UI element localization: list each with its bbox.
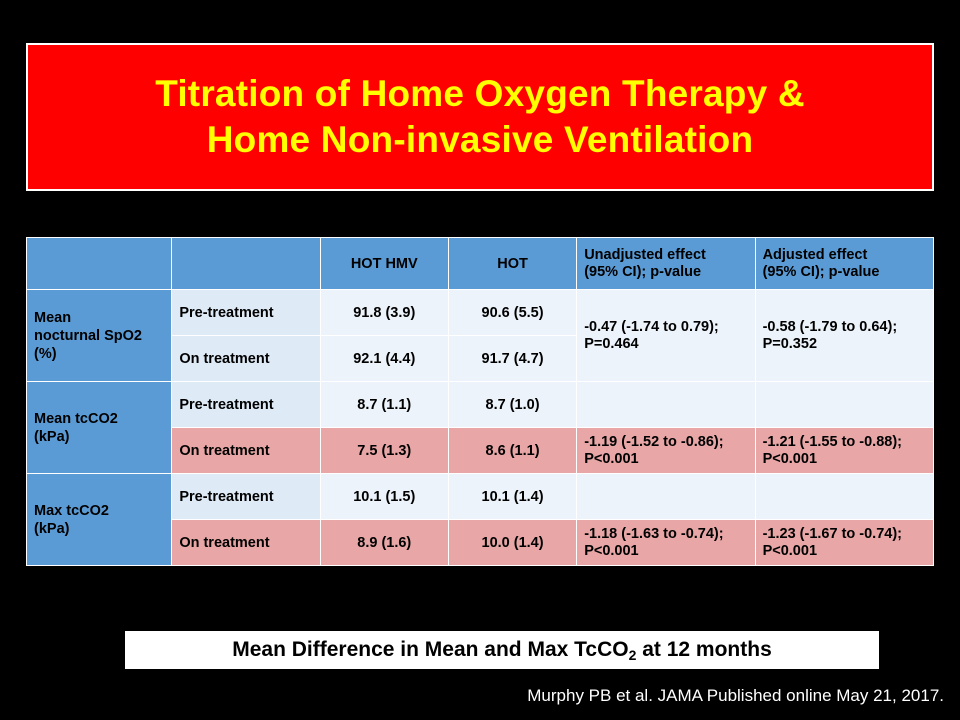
caption-box: Mean Difference in Mean and Max TcCO2 at… [124, 630, 880, 670]
value-hot: 91.7 (4.7) [448, 336, 576, 382]
phase-label: On treatment [172, 428, 320, 474]
header-hot-hmv: HOT HMV [320, 238, 448, 290]
header-unadjusted-effect: Unadjusted effect (95% CI); p-value [577, 238, 755, 290]
adjusted-line-1: -1.21 (-1.55 to -0.88); [763, 434, 926, 451]
header-adjusted-line-2: (95% CI); p-value [763, 264, 926, 281]
title-banner: Titration of Home Oxygen Therapy & Home … [26, 43, 934, 191]
group-label-max-tcco2: Max tcCO2 (kPa) [27, 474, 172, 566]
caption-part-2: at 12 months [636, 638, 771, 661]
group-label-mean-tcco2: Mean tcCO2 (kPa) [27, 382, 172, 474]
group-label-line-2: nocturnal SpO2 [34, 327, 164, 345]
group-label-line-1: Mean tcCO2 [34, 410, 164, 428]
phase-label: Pre-treatment [172, 290, 320, 336]
phase-label: On treatment [172, 520, 320, 566]
value-hot-hmv: 7.5 (1.3) [320, 428, 448, 474]
header-unadjusted-line-1: Unadjusted effect [584, 247, 747, 264]
unadjusted-line-1: -0.47 (-1.74 to 0.79); [584, 319, 747, 336]
header-adjusted-effect: Adjusted effect (95% CI); p-value [755, 238, 933, 290]
group-label-line-1: Max tcCO2 [34, 502, 164, 520]
adjusted-line-2: P<0.001 [763, 451, 926, 468]
unadjusted-line-2: P<0.001 [584, 543, 747, 560]
value-hot-hmv: 92.1 (4.4) [320, 336, 448, 382]
caption-part-1: Mean Difference in Mean and Max TcCO [232, 638, 628, 661]
value-hot: 90.6 (5.5) [448, 290, 576, 336]
header-corner-2 [172, 238, 320, 290]
value-unadjusted-effect: -1.18 (-1.63 to -0.74); P<0.001 [577, 520, 755, 566]
unadjusted-line-1: -1.18 (-1.63 to -0.74); [584, 526, 747, 543]
value-adjusted-effect: -0.58 (-1.79 to 0.64); P=0.352 [755, 290, 933, 382]
value-adjusted-effect-blank [755, 382, 933, 428]
value-hot-hmv: 91.8 (3.9) [320, 290, 448, 336]
unadjusted-line-1: -1.19 (-1.52 to -0.86); [584, 434, 747, 451]
value-hot-hmv: 10.1 (1.5) [320, 474, 448, 520]
caption-subscript: 2 [629, 647, 637, 663]
value-hot: 8.7 (1.0) [448, 382, 576, 428]
phase-label: On treatment [172, 336, 320, 382]
phase-label: Pre-treatment [172, 474, 320, 520]
table-row: Mean tcCO2 (kPa) Pre-treatment 8.7 (1.1)… [27, 382, 934, 428]
value-hot: 10.1 (1.4) [448, 474, 576, 520]
group-label-mean-nocturnal-spo2: Mean nocturnal SpO2 (%) [27, 290, 172, 382]
adjusted-line-2: P=0.352 [763, 336, 926, 353]
value-unadjusted-effect: -1.19 (-1.52 to -0.86); P<0.001 [577, 428, 755, 474]
caption-text: Mean Difference in Mean and Max TcCO2 at… [232, 638, 772, 662]
value-unadjusted-effect-blank [577, 474, 755, 520]
header-adjusted-line-1: Adjusted effect [763, 247, 926, 264]
group-label-line-2: (kPa) [34, 428, 164, 446]
phase-label: Pre-treatment [172, 382, 320, 428]
value-unadjusted-effect: -0.47 (-1.74 to 0.79); P=0.464 [577, 290, 755, 382]
adjusted-line-2: P<0.001 [763, 543, 926, 560]
value-unadjusted-effect-blank [577, 382, 755, 428]
table-row: Mean nocturnal SpO2 (%) Pre-treatment 91… [27, 290, 934, 336]
group-label-line-1: Mean [34, 309, 164, 327]
value-hot-hmv: 8.9 (1.6) [320, 520, 448, 566]
value-hot: 8.6 (1.1) [448, 428, 576, 474]
group-label-line-2: (kPa) [34, 520, 164, 538]
unadjusted-line-2: P=0.464 [584, 336, 747, 353]
value-hot-hmv: 8.7 (1.1) [320, 382, 448, 428]
header-corner [27, 238, 172, 290]
results-table: HOT HMV HOT Unadjusted effect (95% CI); … [26, 237, 934, 566]
unadjusted-line-2: P<0.001 [584, 451, 747, 468]
value-hot: 10.0 (1.4) [448, 520, 576, 566]
table-header-row: HOT HMV HOT Unadjusted effect (95% CI); … [27, 238, 934, 290]
title-line-2: Home Non-invasive Ventilation [207, 117, 754, 163]
adjusted-line-1: -1.23 (-1.67 to -0.74); [763, 526, 926, 543]
value-adjusted-effect: -1.23 (-1.67 to -0.74); P<0.001 [755, 520, 933, 566]
table-row: Max tcCO2 (kPa) Pre-treatment 10.1 (1.5)… [27, 474, 934, 520]
adjusted-line-1: -0.58 (-1.79 to 0.64); [763, 319, 926, 336]
header-hot: HOT [448, 238, 576, 290]
group-label-line-3: (%) [34, 345, 164, 363]
value-adjusted-effect: -1.21 (-1.55 to -0.88); P<0.001 [755, 428, 933, 474]
citation-text: Murphy PB et al. JAMA Published online M… [0, 686, 944, 706]
title-line-1: Titration of Home Oxygen Therapy & [155, 71, 805, 117]
header-unadjusted-line-2: (95% CI); p-value [584, 264, 747, 281]
value-adjusted-effect-blank [755, 474, 933, 520]
